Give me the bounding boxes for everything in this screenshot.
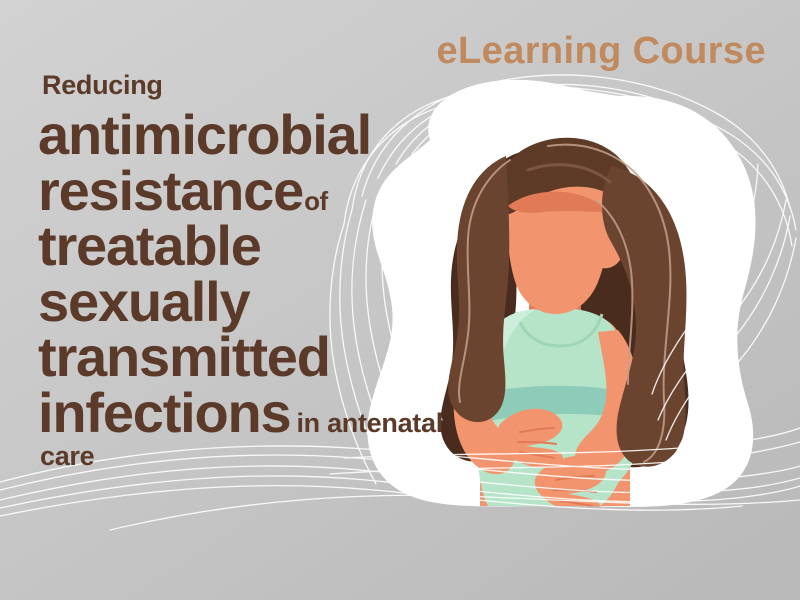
title-eyebrow: Reducing: [42, 72, 508, 99]
title-connector-of: of: [304, 186, 328, 216]
title-line-1: antimicrobial: [38, 109, 508, 161]
title-last-word: care: [40, 444, 508, 469]
poster-canvas: eLearning Course Reducing antimicrobial …: [0, 0, 800, 600]
title-line-4: sexually: [38, 276, 508, 328]
title-block: Reducing antimicrobial resistanceof trea…: [38, 72, 508, 469]
title-line-2: resistance: [38, 159, 303, 222]
title-line-2-wrap: resistanceof: [38, 165, 508, 217]
page-title: antimicrobial resistanceof treatable sex…: [38, 109, 508, 469]
course-label: eLearning Course: [437, 30, 766, 73]
title-line-5: transmitted: [38, 331, 508, 383]
title-connector-in: in antenatal: [296, 408, 442, 438]
title-line-3: treatable: [38, 220, 508, 272]
title-line-6: infections: [38, 381, 290, 444]
title-line-6-wrap: infectionsin antenatal: [38, 387, 508, 439]
